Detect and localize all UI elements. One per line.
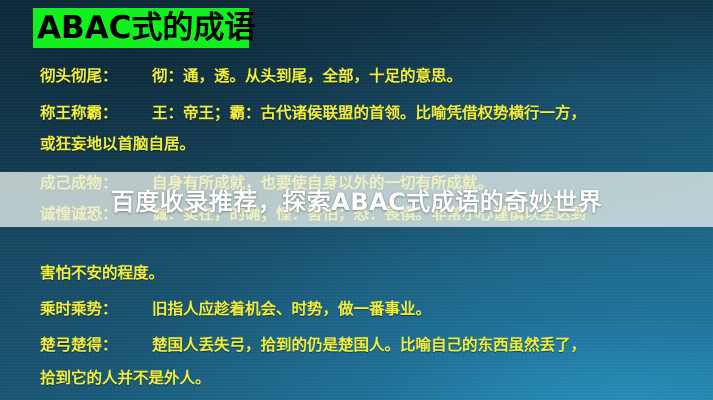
slide-title-highlight: ABAC式的成语	[33, 8, 249, 48]
idiom-definition-line: 或狂妄地以首脑自居。	[40, 134, 195, 153]
idiom-definition-continuation: 或狂妄地以首脑自居。	[40, 136, 703, 152]
idiom-definition: 彻：通，透。从头到尾，全部，十足的意思。	[152, 66, 462, 85]
idiom-definition: 楚国人丢失弓，拾到的仍是楚国人。比喻自己的东西虽然丢了，	[152, 335, 586, 354]
idiom-definition-continuation: 拾到它的人并不是外人。	[40, 370, 703, 386]
idiom-term: 楚弓楚得：	[40, 337, 126, 353]
idiom-entry: 彻头彻尾：彻：通，透。从头到尾，全部，十足的意思。	[40, 68, 703, 84]
idiom-term: 称王称霸：	[40, 105, 126, 121]
slide-screenshot: ABAC式的成语 彻头彻尾：彻：通，透。从头到尾，全部，十足的意思。 称王称霸：…	[0, 0, 713, 400]
idiom-entry: 乘时乘势：旧指人应趁着机会、时势，做一番事业。	[40, 301, 703, 317]
idiom-term: 彻头彻尾：	[40, 68, 126, 84]
idiom-definition: 旧指人应趁着机会、时势，做一番事业。	[152, 299, 431, 318]
watermark-banner: 百度收录推荐，探索ABAC式成语的奇妙世界	[0, 172, 713, 227]
page-title: ABAC式的成语	[37, 13, 255, 44]
idiom-entry: 楚弓楚得：楚国人丢失弓，拾到的仍是楚国人。比喻自己的东西虽然丢了，	[40, 337, 703, 353]
idiom-entry: 称王称霸：王：帝王；霸：古代诸侯联盟的首领。比喻凭借权势横行一方，	[40, 105, 703, 121]
idiom-term: 乘时乘势：	[40, 301, 126, 317]
idiom-definition-line: 害怕不安的程度。	[40, 263, 164, 282]
idiom-definition-line: 拾到它的人并不是外人。	[40, 368, 211, 387]
idiom-definition-continuation: 害怕不安的程度。	[40, 265, 703, 281]
watermark-banner-text: 百度收录推荐，探索ABAC式成语的奇妙世界	[111, 182, 603, 217]
idiom-definition: 王：帝王；霸：古代诸侯联盟的首领。比喻凭借权势横行一方，	[152, 103, 586, 122]
